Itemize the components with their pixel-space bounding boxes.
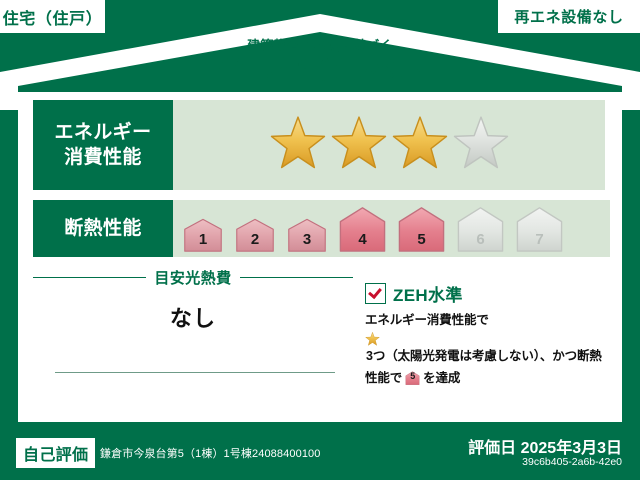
energy-performance-label-box: エネルギー 消費性能 xyxy=(33,100,173,190)
insulation-performance-label-box: 断熱性能 xyxy=(33,200,173,257)
insulation-scale: 1234567 xyxy=(178,206,568,252)
house-icon: 2 xyxy=(230,214,280,252)
utility-cost-divider xyxy=(55,372,335,373)
check-icon xyxy=(365,283,386,304)
star-icon xyxy=(391,116,449,174)
insulation-level-number: 5 xyxy=(393,231,450,248)
insulation-level-number: 7 xyxy=(511,231,568,248)
zeh-title: ZEH水準 xyxy=(393,281,463,306)
star-icon xyxy=(452,116,510,174)
self-evaluation-badge: 自己評価 xyxy=(16,438,95,468)
evaluation-date: 評価日 2025年3月3日 xyxy=(468,434,622,458)
utility-cost-title: 目安光熱費 xyxy=(154,267,231,288)
star-icon xyxy=(365,332,610,347)
utility-cost-header: 目安光熱費 xyxy=(33,267,353,288)
insulation-level-number: 1 xyxy=(178,231,228,248)
zeh-desc-star-text: 3つ（太陽光発電 xyxy=(366,349,459,363)
insulation-performance-row: 断熱性能 1234567 xyxy=(33,200,610,257)
energy-performance-value-box xyxy=(173,100,605,190)
house-icon: 7 xyxy=(511,206,568,252)
house-icon: 5 xyxy=(404,371,421,385)
building-type-tag: 住宅（住戸） xyxy=(0,0,105,33)
insulation-performance-value-box: 1234567 xyxy=(173,200,610,257)
insulation-level-number: 2 xyxy=(230,231,280,248)
house-icon: 3 xyxy=(282,214,332,252)
renewable-energy-tag: 再エネ設備なし xyxy=(498,0,640,33)
energy-label-line2: 消費性能 xyxy=(55,145,152,170)
energy-performance-row: エネルギー 消費性能 xyxy=(33,100,605,190)
utility-cost-rule-right xyxy=(240,277,353,278)
zeh-desc-part1: エネルギー消費性能で xyxy=(365,313,489,327)
star-icon xyxy=(330,116,388,174)
page-subtitle: 建築物省エネ法に基づく xyxy=(0,38,640,54)
utility-cost-value: なし xyxy=(33,301,353,333)
zeh-insulation-badge-number: 5 xyxy=(404,370,421,384)
utility-cost-rule-left xyxy=(33,277,146,278)
zeh-description: エネルギー消費性能で3つ（太陽光発電は考慮しない）、かつ断熱性能で5を達成 xyxy=(365,311,610,388)
insulation-level-number: 4 xyxy=(334,231,391,248)
zeh-section: ZEH水準 エネルギー消費性能で3つ（太陽光発電は考慮しない）、かつ断熱性能で5… xyxy=(365,281,610,388)
evaluation-id: 39c6b405-2a6b-42e0 xyxy=(522,456,622,468)
zeh-desc-part3: を達成 xyxy=(423,371,460,385)
house-icon: 6 xyxy=(452,206,509,252)
footer: 自己評価 鎌倉市今泉台第5（1棟）1号棟24088400100 評価日 2025… xyxy=(0,428,640,480)
lower-section: 目安光熱費 なし ZEH水準 エネルギー消費性能で3つ（太陽光発電は考慮しない）… xyxy=(33,267,607,412)
house-icon: 4 xyxy=(334,206,391,252)
energy-label-line1: エネルギー xyxy=(55,120,152,145)
insulation-level-number: 3 xyxy=(282,231,332,248)
building-type-tag-label: 住宅（住戸） xyxy=(3,5,103,29)
insulation-label: 断熱性能 xyxy=(64,216,142,241)
insulation-level-number: 6 xyxy=(452,231,509,248)
house-icon: 5 xyxy=(393,206,450,252)
zeh-title-row: ZEH水準 xyxy=(365,281,610,306)
star-icon xyxy=(269,116,327,174)
energy-performance-label: 住宅（住戸） 再エネ設備なし 建築物省エネ法に基づく 省エネ性能ラベル エネルギ… xyxy=(0,0,640,480)
label-card: エネルギー 消費性能 断熱性能 1234567 目安光熱費 xyxy=(18,92,622,422)
property-address: 鎌倉市今泉台第5（1棟）1号棟24088400100 xyxy=(100,445,321,461)
house-icon: 1 xyxy=(178,214,228,252)
renewable-energy-tag-label: 再エネ設備なし xyxy=(514,6,623,27)
star-rating xyxy=(269,116,510,174)
